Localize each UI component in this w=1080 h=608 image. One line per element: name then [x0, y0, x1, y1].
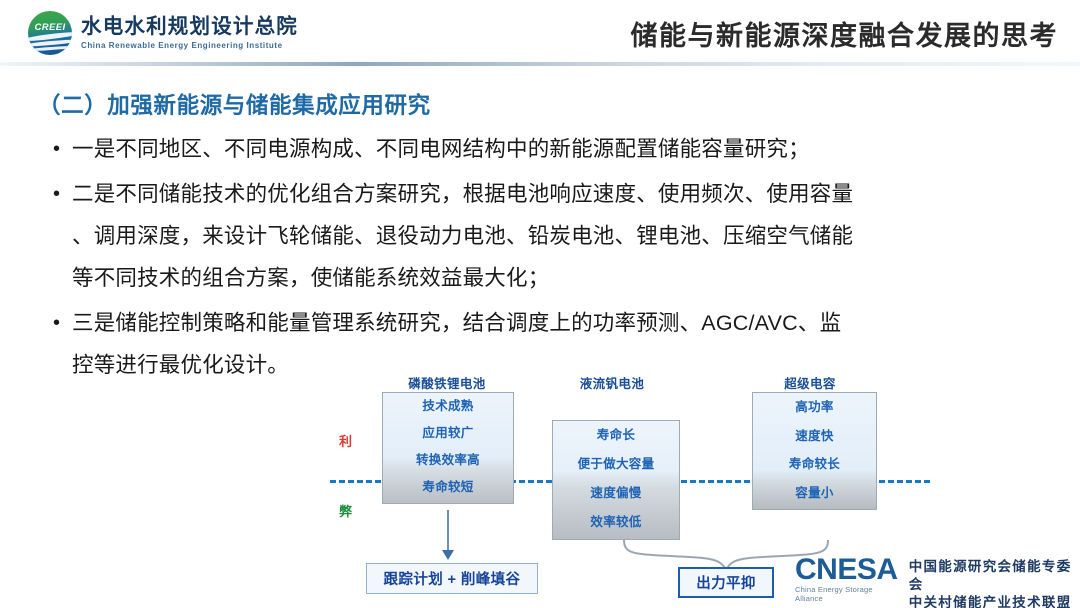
slide-canvas: CREEI 水电水利规划设计总院 China Renewable Energy …	[0, 0, 1080, 608]
category-attribute: 寿命较短	[383, 474, 513, 501]
bullet-text: 一是不同地区、不同电源构成、不同电网结构中的新能源配置储能容量研究；	[72, 128, 810, 170]
bullet-line: 等不同技术的组合方案，使储能系统效益最大化；	[72, 257, 853, 299]
connector-arrow-line	[447, 510, 449, 552]
category-attribute: 技术成熟	[383, 393, 513, 420]
bullet-list: • 一是不同地区、不同电源构成、不同电网结构中的新能源配置储能容量研究； • 二…	[50, 128, 1060, 386]
org-name-cn: 水电水利规划设计总院	[81, 16, 298, 38]
category-attribute: 便于做大容量	[553, 450, 679, 479]
cons-axis-label: 弊	[339, 501, 352, 520]
category-box-supercapacitor: 高功率 速度快 寿命较长 容量小	[752, 392, 877, 510]
bullet-marker: •	[50, 302, 72, 344]
pros-axis-label: 利	[339, 431, 352, 450]
bullet-line: 、调用深度，来设计飞轮储能、退役动力电池、铅炭电池、锂电池、压缩空气储能	[72, 215, 853, 257]
category-attribute: 转换效率高	[383, 447, 513, 474]
outcome-box-output-smoothing: 出力平抑	[678, 567, 774, 598]
category-title-lfp: 磷酸铁锂电池	[382, 373, 512, 392]
bullet-line: 二是不同储能技术的优化组合方案研究，根据电池响应速度、使用频次、使用容量	[72, 173, 853, 215]
category-attribute: 速度偏慢	[553, 479, 679, 508]
slide-header: CREEI 水电水利规划设计总院 China Renewable Energy …	[0, 0, 1080, 62]
category-attribute: 容量小	[753, 479, 876, 508]
cnesa-wordmark-block: CNESA China Energy Storage Alliance	[795, 556, 905, 603]
category-title-supercapacitor: 超级电容	[755, 373, 865, 392]
brand-lockup: CREEI 水电水利规划设计总院 China Renewable Energy …	[28, 11, 298, 55]
cnesa-logo: CNESA China Energy Storage Alliance 中国能源…	[795, 556, 1080, 608]
category-box-vanadium-flow: 寿命长 便于做大容量 速度偏慢 效率较低	[552, 420, 680, 540]
list-item: • 二是不同储能技术的优化组合方案研究，根据电池响应速度、使用频次、使用容量 、…	[50, 173, 1060, 299]
outcome-box-tracking-peak-shaving: 跟踪计划 + 削峰填谷	[366, 563, 538, 594]
category-attribute: 效率较低	[553, 508, 679, 537]
cnesa-subtitle-en: China Energy Storage Alliance	[795, 585, 899, 603]
brand-text-block: 水电水利规划设计总院 China Renewable Energy Engine…	[81, 16, 298, 49]
org-name-en: China Renewable Energy Engineering Insti…	[81, 41, 298, 50]
cnesa-wordmark: CNESA	[795, 556, 899, 584]
bullet-marker: •	[50, 128, 72, 170]
category-box-lfp: 技术成熟 应用较广 转换效率高 寿命较短	[382, 392, 514, 504]
header-divider	[0, 62, 1080, 66]
category-attribute: 高功率	[753, 393, 876, 422]
cnesa-cn-line-2: 中关村储能产业技术联盟	[909, 594, 1080, 608]
category-attribute: 应用较广	[383, 420, 513, 447]
category-attribute: 寿命较长	[753, 450, 876, 479]
category-attribute: 寿命长	[553, 421, 679, 450]
creei-logo-icon: CREEI	[28, 11, 72, 55]
list-item: • 一是不同地区、不同电源构成、不同电网结构中的新能源配置储能容量研究；	[50, 128, 1060, 170]
category-attribute: 速度快	[753, 422, 876, 451]
connector-arrow-icon	[442, 550, 454, 560]
bullet-text: 二是不同储能技术的优化组合方案研究，根据电池响应速度、使用频次、使用容量 、调用…	[72, 173, 853, 299]
creei-logo-text: CREEI	[28, 22, 72, 33]
bullet-line: 三是储能控制策略和能量管理系统研究，结合调度上的功率预测、AGC/AVC、监	[72, 302, 841, 344]
category-title-vanadium-flow: 液流钒电池	[552, 373, 672, 392]
section-heading: （二）加强新能源与储能集成应用研究	[38, 88, 431, 120]
bullet-marker: •	[50, 173, 72, 215]
cnesa-cn-line-1: 中国能源研究会储能专委会	[909, 558, 1080, 594]
page-title: 储能与新能源深度融合发展的思考	[631, 14, 1059, 53]
cnesa-cn-block: 中国能源研究会储能专委会 中关村储能产业技术联盟	[905, 556, 1080, 608]
bullet-line: 一是不同地区、不同电源构成、不同电网结构中的新能源配置储能容量研究；	[72, 128, 810, 170]
